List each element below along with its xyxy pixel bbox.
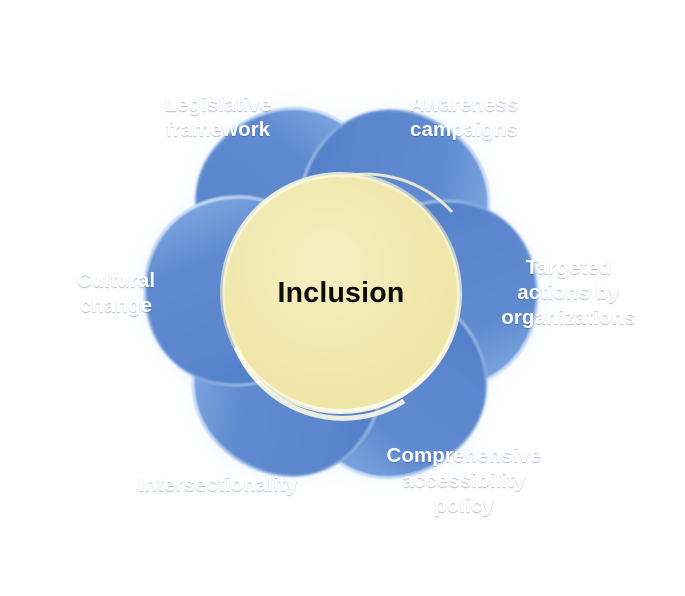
flower-diagram: Legislative framework Awareness campaign… <box>0 0 685 596</box>
center-circle-label: Inclusion <box>222 277 460 309</box>
